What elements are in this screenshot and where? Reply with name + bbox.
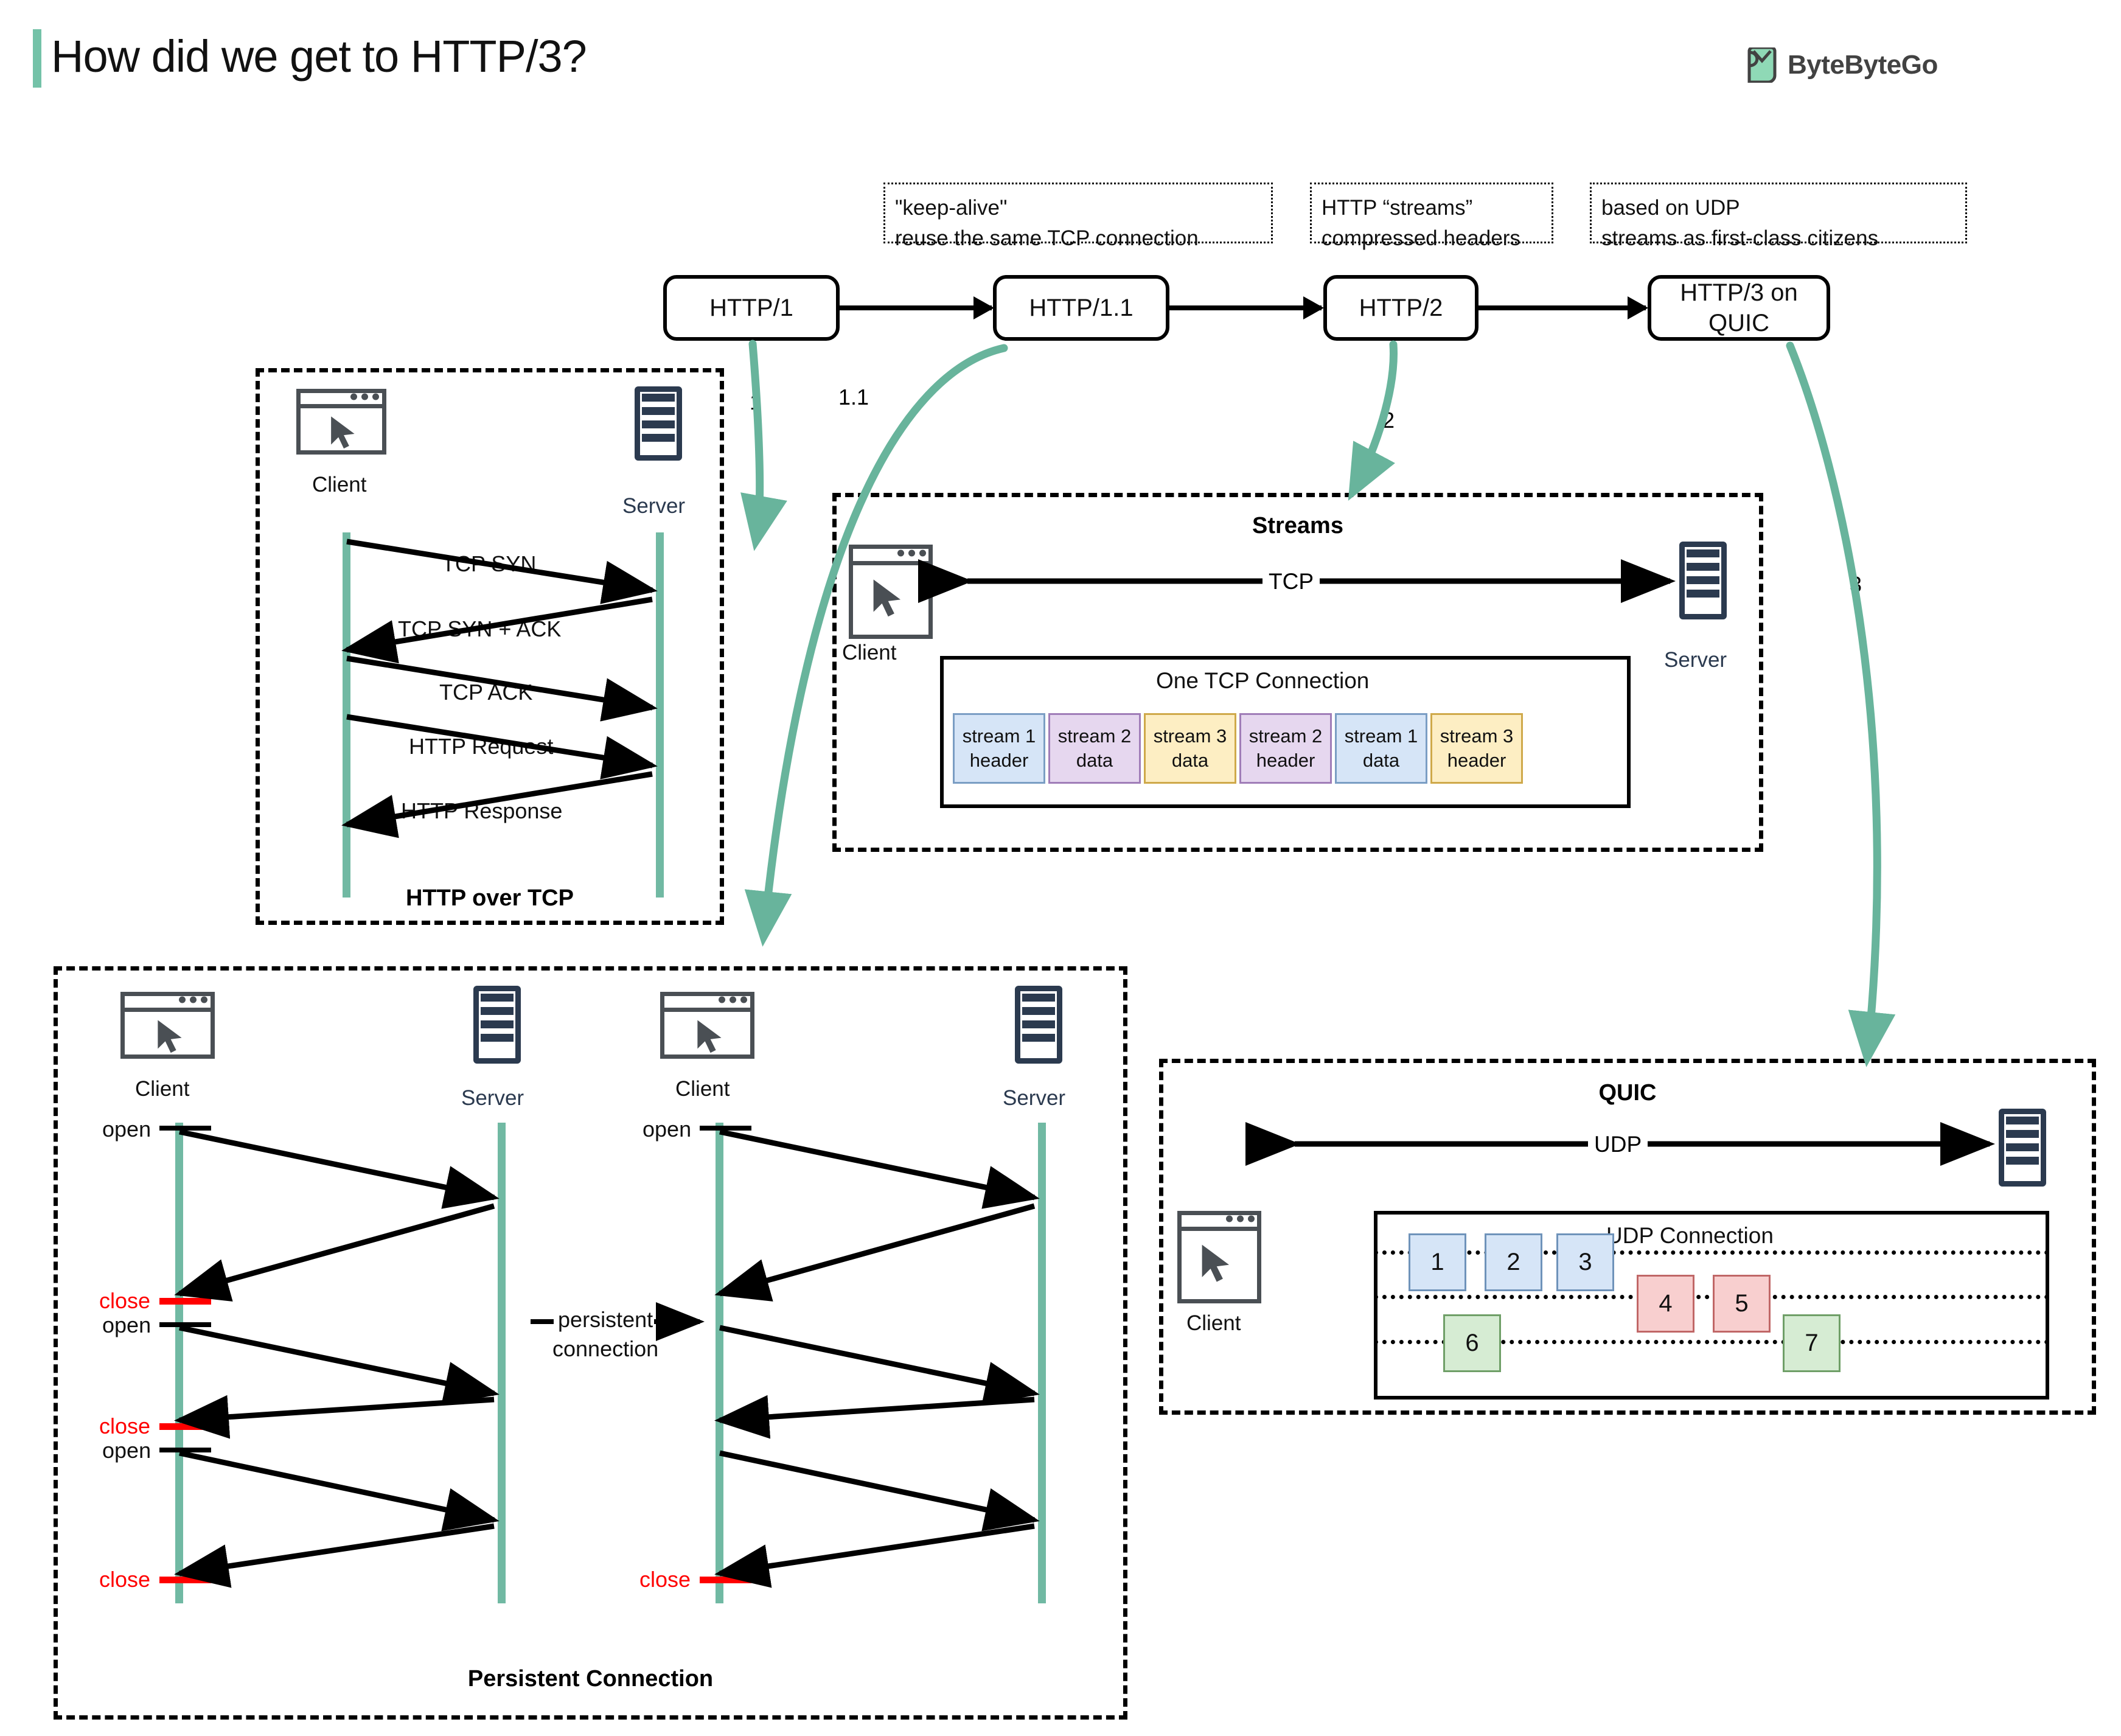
note-keep-alive-line2: reuse the same TCP connection — [895, 223, 1261, 254]
quic-packet-label: 1 — [1430, 1249, 1444, 1276]
persistent-connection-callout: persistent connection — [552, 1305, 658, 1364]
server-icon-quic — [1999, 1109, 2046, 1187]
quic-packet: 4 — [1637, 1275, 1694, 1333]
quic-packet-label: 3 — [1578, 1249, 1592, 1276]
client-icon-persistent-right — [660, 992, 754, 1059]
stream-cell: stream 1 header — [953, 713, 1045, 784]
client-icon-streams — [849, 545, 933, 639]
client-icon-quic — [1177, 1211, 1261, 1303]
server-lifeline-persistent-left — [498, 1123, 506, 1603]
client-icon-persistent-left — [120, 992, 215, 1059]
connector-label-3: 3 — [1850, 572, 1862, 598]
marker-close-3-left: close — [99, 1567, 150, 1592]
stream-cell: stream 2 data — [1048, 713, 1141, 784]
stream-cell-line1: stream 1 — [963, 724, 1036, 748]
marker-close-tick-2-left — [159, 1423, 211, 1430]
quic-packet-label: 2 — [1506, 1249, 1520, 1276]
marker-open-2-left: open — [102, 1312, 151, 1338]
server-label-http-over-tcp: Server — [622, 494, 685, 518]
message-http-response: HTTP Response — [399, 798, 565, 824]
note-keep-alive-line1: "keep-alive" — [895, 193, 1261, 223]
client-icon-http-over-tcp — [296, 389, 386, 455]
server-label-persistent-right: Server — [1003, 1086, 1065, 1110]
timeline-box-http11-label: HTTP/1.1 — [1029, 293, 1133, 323]
message-http-request: HTTP Request — [406, 734, 555, 759]
timeline-box-http2-label: HTTP/2 — [1359, 293, 1443, 323]
stream-cell: stream 3 header — [1430, 713, 1523, 784]
marker-close-2-left: close — [99, 1414, 150, 1439]
quic-packet: 1 — [1409, 1233, 1466, 1291]
server-icon-persistent-left — [473, 986, 521, 1064]
marker-open-tick-2-left — [159, 1322, 211, 1327]
connector-label-1: 1 — [750, 389, 762, 415]
one-tcp-connection-title: One TCP Connection — [1156, 668, 1369, 694]
message-tcp-ack: TCP ACK — [437, 680, 535, 705]
bytebytego-mark-icon — [1746, 47, 1778, 83]
stream-cell-line2: header — [970, 748, 1029, 773]
quic-packet: 5 — [1713, 1275, 1771, 1333]
flow-arrow-3 — [1790, 346, 1877, 1051]
timeline-box-http1-label: HTTP/1 — [709, 293, 793, 323]
persistent-callout-line1: persistent — [552, 1305, 658, 1334]
stream-cell-line2: header — [1256, 748, 1315, 773]
quic-dotline-1 — [1374, 1250, 2049, 1255]
client-label-http-over-tcp: Client — [312, 473, 366, 497]
server-icon-persistent-right — [1015, 986, 1062, 1064]
client-label-persistent-right: Client — [675, 1077, 730, 1101]
note-http2-line1: HTTP “streams” — [1322, 193, 1542, 223]
stream-cell-line2: data — [1172, 748, 1208, 773]
client-label-quic: Client — [1186, 1311, 1241, 1336]
timeline-arrow-2 — [1169, 305, 1322, 310]
marker-close-tick-right — [700, 1577, 751, 1583]
client-lifeline-http-over-tcp — [343, 532, 350, 898]
stream-cell-list: stream 1 header stream 2 data stream 3 d… — [953, 713, 1523, 784]
quic-packet: 2 — [1485, 1233, 1542, 1291]
timeline-box-http3-label: HTTP/3 on QUIC — [1651, 277, 1827, 338]
marker-open-tick-3-left — [159, 1448, 211, 1452]
server-label-streams: Server — [1664, 648, 1727, 672]
marker-close-tick-1-left — [159, 1298, 211, 1305]
quic-packet: 3 — [1556, 1233, 1614, 1291]
marker-close-1-left: close — [99, 1288, 150, 1314]
stream-cell-line1: stream 1 — [1345, 724, 1418, 748]
timeline-box-http2[interactable]: HTTP/2 — [1323, 275, 1478, 341]
note-keep-alive: "keep-alive" reuse the same TCP connecti… — [883, 183, 1273, 243]
stream-cell-line1: stream 2 — [1058, 724, 1132, 748]
note-http2-features: HTTP “streams” compressed headers — [1310, 183, 1553, 243]
timeline-arrow-1 — [840, 305, 992, 310]
udp-connection-title: UDP Connection — [1606, 1223, 1774, 1249]
note-http3-line1: based on UDP — [1601, 193, 1956, 223]
timeline-box-http11[interactable]: HTTP/1.1 — [993, 275, 1169, 341]
persistent-callout-line2: connection — [552, 1334, 658, 1364]
stream-cell-line2: data — [1076, 748, 1113, 773]
connector-label-2: 2 — [1382, 408, 1395, 433]
marker-open-tick-right — [700, 1126, 751, 1131]
server-icon-http-over-tcp — [635, 386, 682, 461]
note-http3-features: based on UDP streams as first-class citi… — [1590, 183, 1967, 243]
page-title: How did we get to HTTP/3? — [51, 26, 587, 88]
brand-logo: ByteByteGo — [1746, 47, 1938, 83]
server-label-persistent-left: Server — [461, 1086, 524, 1110]
message-tcp-syn-ack: TCP SYN + ACK — [395, 616, 563, 642]
flow-arrow-1 — [753, 344, 760, 535]
stream-cell-line2: header — [1447, 748, 1506, 773]
quic-dotline-2 — [1374, 1295, 2049, 1299]
marker-open-3-left: open — [102, 1438, 151, 1463]
marker-open-1-left: open — [102, 1117, 151, 1142]
marker-close-tick-3-left — [159, 1577, 211, 1583]
client-lifeline-persistent-left — [175, 1123, 183, 1603]
stream-cell-line1: stream 3 — [1154, 724, 1227, 748]
marker-open-right: open — [643, 1117, 691, 1142]
stream-cell: stream 1 data — [1335, 713, 1427, 784]
marker-open-tick-1-left — [159, 1126, 211, 1131]
panel-title-quic: QUIC — [1159, 1080, 2096, 1106]
quic-packet-label: 7 — [1805, 1330, 1818, 1357]
stream-cell-line1: stream 2 — [1249, 724, 1323, 748]
panel-title-persistent-connection: Persistent Connection — [54, 1666, 1127, 1692]
timeline-box-http1[interactable]: HTTP/1 — [663, 275, 840, 341]
server-lifeline-persistent-right — [1038, 1123, 1046, 1603]
stream-cell: stream 2 header — [1239, 713, 1332, 784]
stream-cell-line1: stream 3 — [1440, 724, 1514, 748]
message-tcp-syn: TCP SYN — [439, 551, 538, 577]
timeline-arrow-3 — [1478, 305, 1646, 310]
transport-label-udp: UDP — [1588, 1132, 1648, 1157]
client-label-streams: Client — [842, 641, 896, 665]
marker-close-right: close — [639, 1567, 691, 1592]
timeline-box-http3[interactable]: HTTP/3 on QUIC — [1648, 275, 1830, 341]
quic-packet: 7 — [1783, 1314, 1841, 1372]
quic-packet-label: 6 — [1465, 1330, 1478, 1357]
stream-cell: stream 3 data — [1144, 713, 1236, 784]
quic-packet-label: 5 — [1735, 1290, 1748, 1317]
title-accent-bar — [33, 29, 41, 88]
transport-label-tcp: TCP — [1262, 569, 1320, 594]
server-icon-streams — [1679, 542, 1727, 619]
panel-title-streams: Streams — [832, 513, 1763, 539]
stream-cell-line2: data — [1363, 748, 1399, 773]
note-http3-line2: streams as first-class citizens — [1601, 223, 1956, 254]
note-http2-line2: compressed headers — [1322, 223, 1542, 254]
quic-packet: 6 — [1443, 1314, 1501, 1372]
quic-packet-label: 4 — [1659, 1290, 1672, 1317]
client-label-persistent-left: Client — [135, 1077, 189, 1101]
panel-title-http-over-tcp: HTTP over TCP — [256, 885, 724, 912]
connector-label-11: 1.1 — [838, 385, 869, 410]
server-lifeline-http-over-tcp — [656, 532, 664, 898]
brand-name: ByteByteGo — [1788, 50, 1938, 80]
client-lifeline-persistent-right — [716, 1123, 723, 1603]
